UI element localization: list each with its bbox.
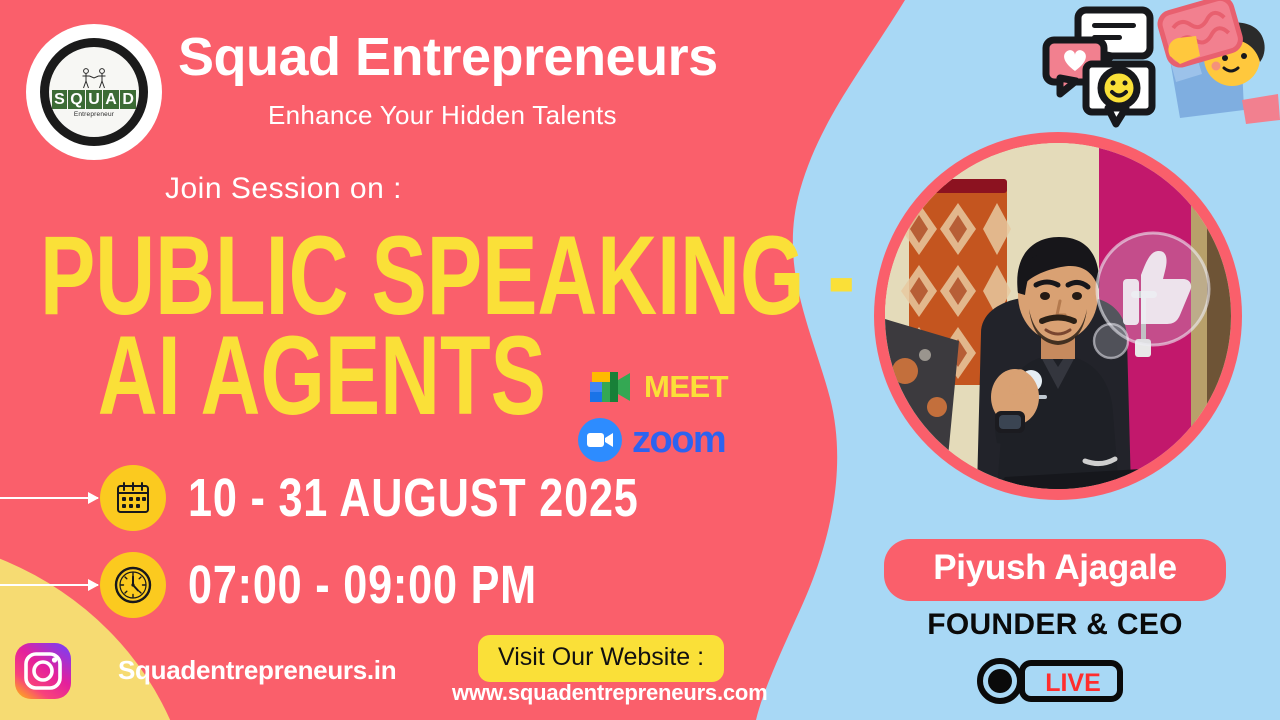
headline-line-1: PUBLIC SPEAKING - bbox=[40, 228, 588, 324]
speaker-photo bbox=[885, 143, 1231, 489]
zoom-label: zoom bbox=[632, 419, 725, 462]
chat-bubbles-illustration-icon bbox=[1020, 0, 1280, 140]
speaker-photo-frame bbox=[874, 132, 1242, 500]
instagram-icon[interactable] bbox=[14, 642, 72, 700]
instagram-handle[interactable]: Squadentrepreneurs.in bbox=[118, 655, 396, 686]
session-date: 10 - 31 AUGUST 2025 bbox=[188, 467, 639, 529]
speaker-role: FOUNDER & CEO bbox=[874, 608, 1236, 642]
join-session-label: Join Session on : bbox=[165, 172, 402, 206]
google-meet-label: MEET bbox=[644, 369, 728, 405]
logo-letter: U bbox=[86, 90, 102, 109]
session-time: 07:00 - 09:00 PM bbox=[188, 554, 537, 616]
session-date-row: 10 - 31 AUGUST 2025 bbox=[0, 465, 751, 531]
logo-letter: A bbox=[103, 90, 119, 109]
calendar-icon bbox=[100, 465, 166, 531]
brand-title: Squad Entrepreneurs bbox=[178, 26, 718, 88]
logo-letter: Q bbox=[68, 90, 84, 109]
brand-logo: S Q U A D Entrepreneur bbox=[26, 24, 162, 160]
clock-icon bbox=[100, 552, 166, 618]
session-time-row: 07:00 - 09:00 PM bbox=[0, 552, 624, 618]
google-meet-icon bbox=[588, 368, 634, 406]
headline-line-2: AI AGENTS bbox=[40, 328, 588, 424]
brand-tagline: Enhance Your Hidden Talents bbox=[268, 100, 617, 131]
speaker-name-badge: Piyush Ajagale bbox=[884, 539, 1226, 601]
logo-letter: D bbox=[120, 90, 136, 109]
poster-canvas: S Q U A D Entrepreneur Squad Entrepreneu… bbox=[0, 0, 1280, 720]
website-url[interactable]: www.squadentrepreneurs.com bbox=[452, 680, 768, 706]
logo-wordmark: S Q U A D bbox=[52, 90, 136, 109]
logo-letter: S bbox=[52, 90, 67, 109]
zoom-icon bbox=[578, 418, 622, 462]
live-label: LIVE bbox=[1045, 669, 1101, 697]
logo-subtitle: Entrepreneur bbox=[74, 111, 114, 118]
arrow-right-icon bbox=[0, 497, 98, 499]
platform-google-meet: MEET bbox=[588, 368, 728, 406]
platform-zoom: zoom bbox=[578, 418, 725, 462]
live-badge: LIVE bbox=[974, 658, 1126, 704]
visit-website-badge[interactable]: Visit Our Website : bbox=[478, 635, 724, 682]
handshake-figures-icon bbox=[77, 67, 111, 89]
arrow-right-icon bbox=[0, 584, 98, 586]
